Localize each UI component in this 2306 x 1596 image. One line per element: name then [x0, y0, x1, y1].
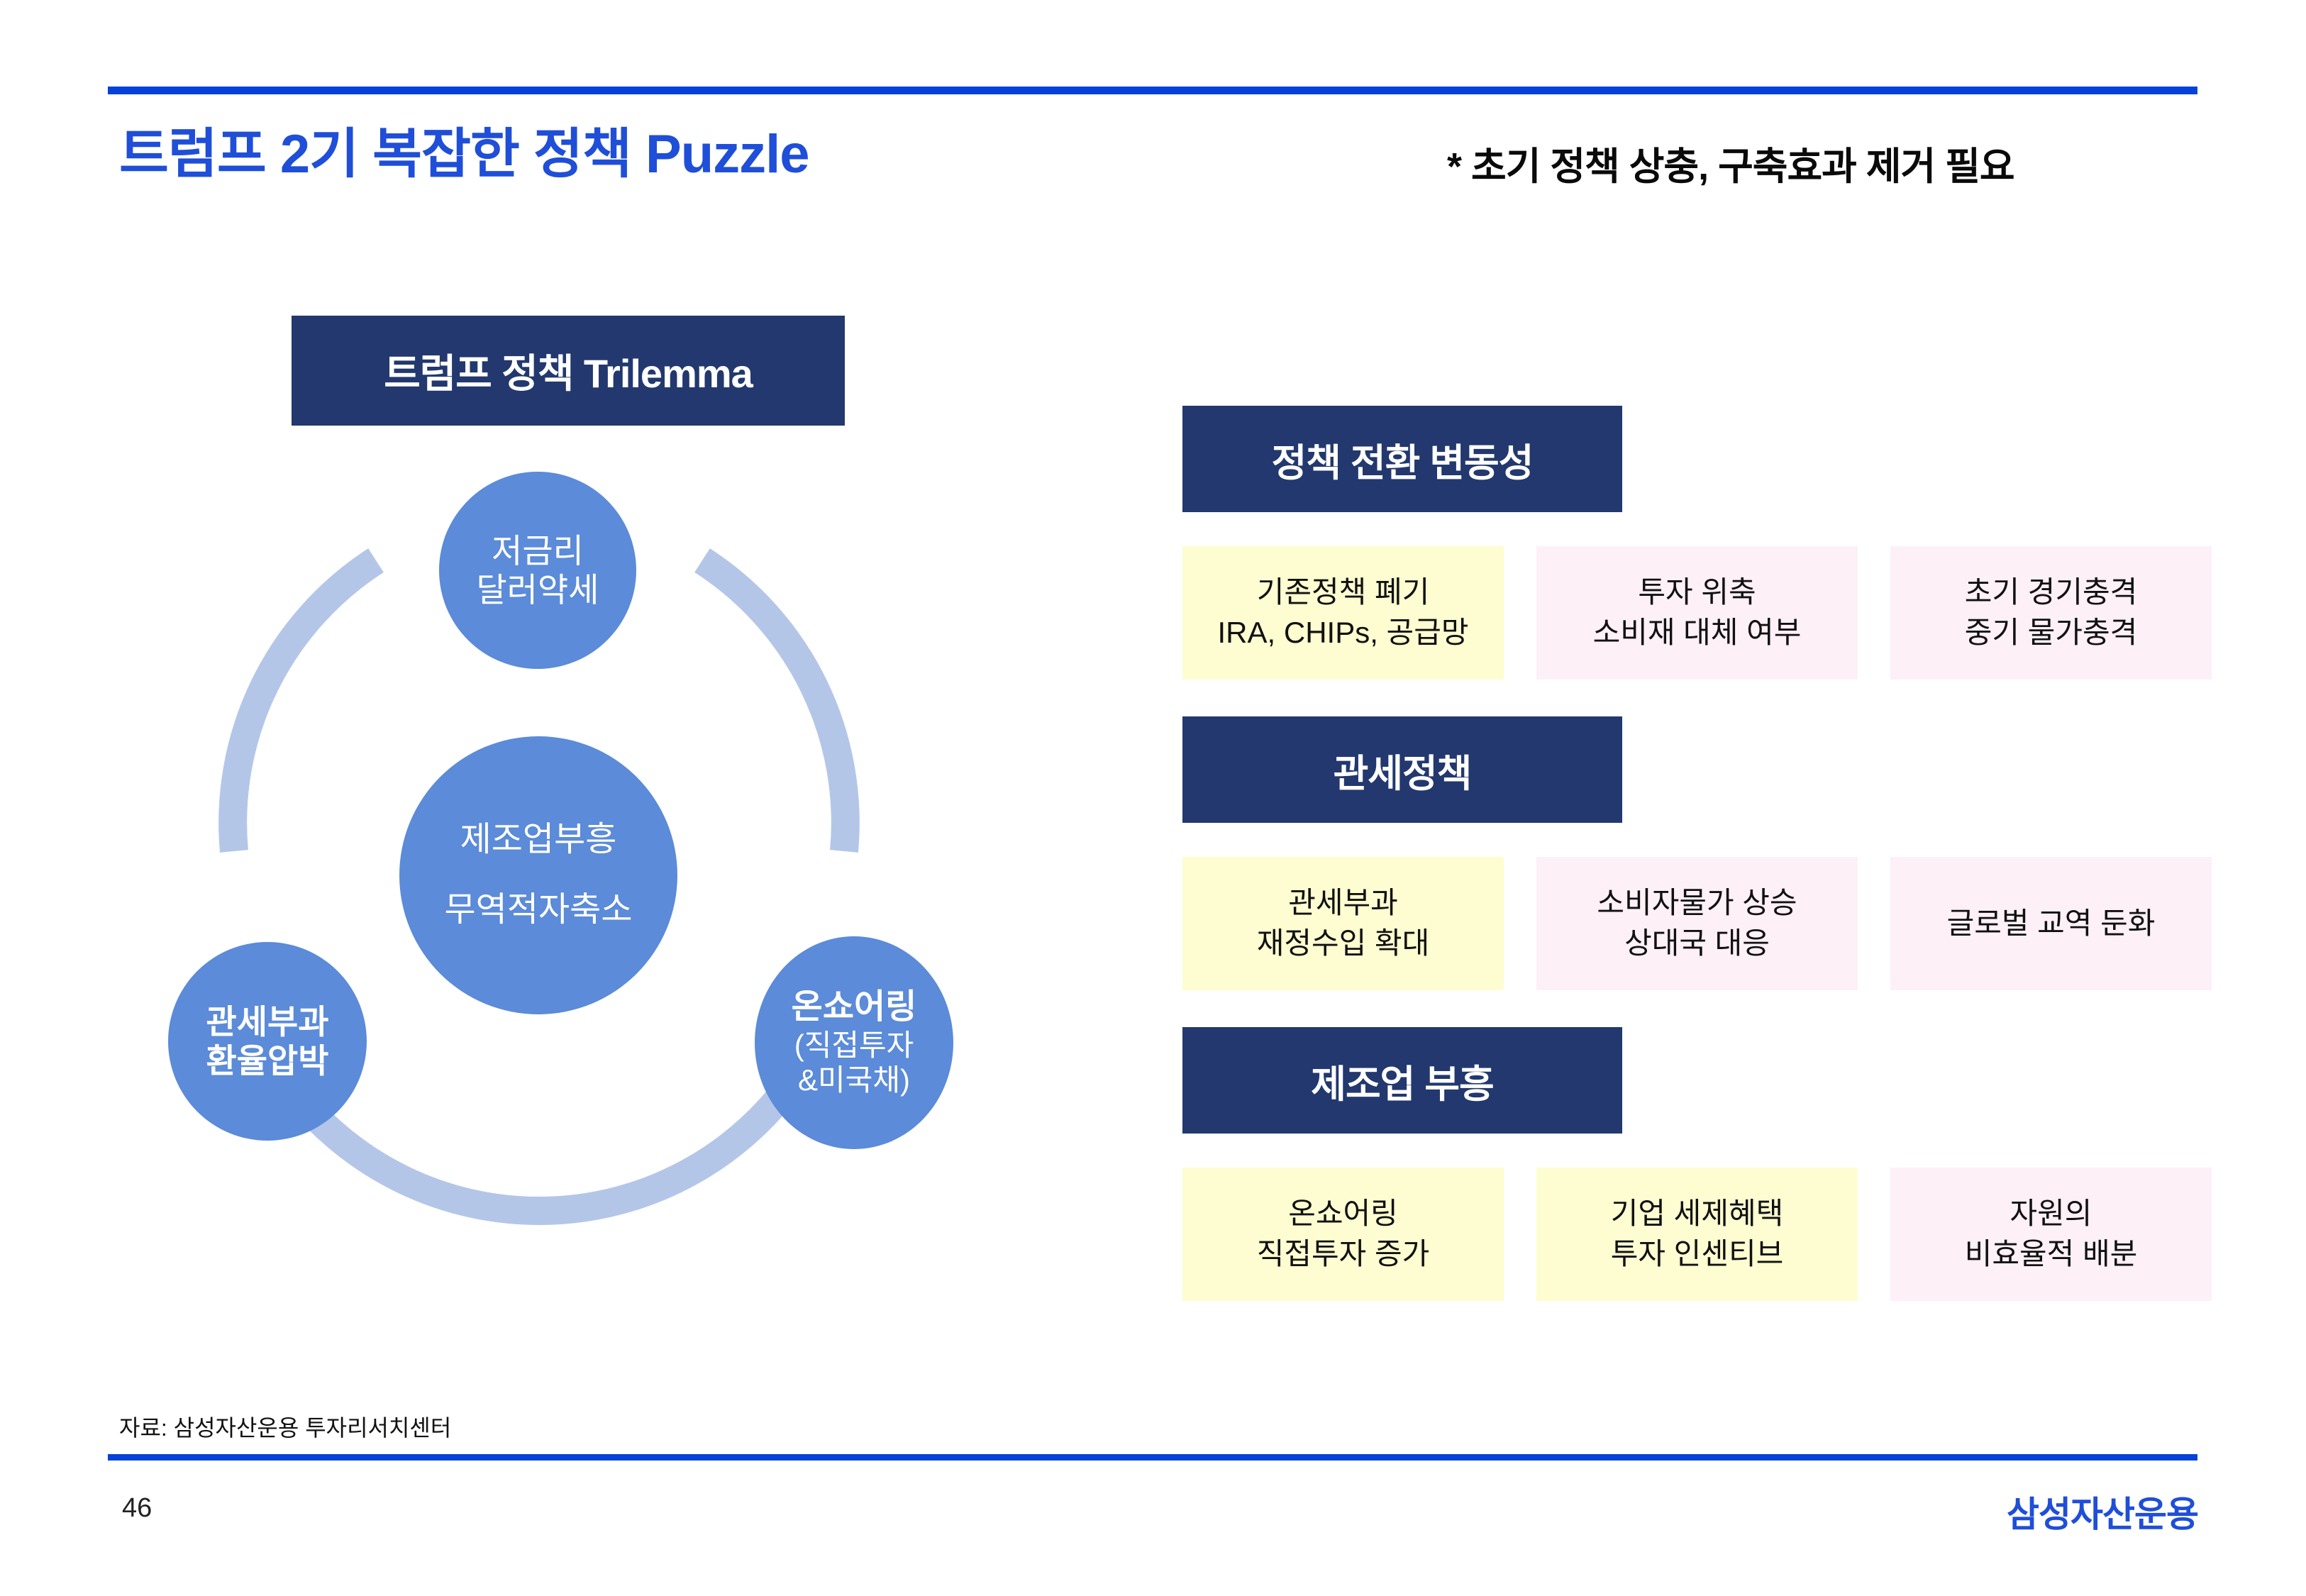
- policy-card-line2: 재정수입 확대: [1257, 924, 1430, 964]
- policy-card: 기업 세제혜택 투자 인센티브: [1536, 1168, 1858, 1301]
- policy-section-3-header-label: 제조업 부흥: [1311, 1053, 1493, 1109]
- policy-card-line2: 비효율적 배분: [1965, 1234, 2138, 1275]
- policy-card-line2: IRA, CHIPs, 공급망: [1218, 613, 1469, 653]
- policy-card: 관세부과 재정수입 확대: [1182, 857, 1504, 990]
- policy-section-1-card-row: 기존정책 폐기 IRA, CHIPs, 공급망 투자 위축 소비재 대체 여부 …: [1182, 546, 2212, 680]
- policy-card-line1: 투자 위축: [1638, 572, 1756, 613]
- policy-section-3-card-row: 온쇼어링 직접투자 증가 기업 세제혜택 투자 인센티브 자원의 비효율적 배분: [1182, 1168, 2212, 1301]
- policy-card-line1: 자원의: [2010, 1194, 2092, 1234]
- policy-section-2: 관세정책 관세부과 재정수입 확대 소비자물가 상승 상대국 대응 글로벌 교역…: [1182, 716, 2212, 990]
- policy-card-line1: 기존정책 폐기: [1257, 572, 1430, 613]
- trilemma-node-top-line2: 달러약세: [477, 570, 599, 609]
- trilemma-node-center-line2: 무역적자축소: [445, 890, 633, 931]
- policy-section-1: 정책 전환 변동성 기존정책 폐기 IRA, CHIPs, 공급망 투자 위축 …: [1182, 406, 2212, 680]
- policy-card-line2: 상대국 대응: [1624, 924, 1770, 964]
- trilemma-diagram: 저금리 달러약세 제조업부흥 무역적자축소 관세부과 환율압박 온쇼어링 (직접…: [163, 454, 1014, 1277]
- footer-rule: [108, 1454, 2197, 1461]
- policy-section-3: 제조업 부흥 온쇼어링 직접투자 증가 기업 세제혜택 투자 인센티브 자원의 …: [1182, 1027, 2212, 1301]
- policy-card: 글로벌 교역 둔화: [1890, 857, 2212, 990]
- trilemma-node-right-line3: &미국채): [798, 1063, 910, 1098]
- policy-card: 자원의 비효율적 배분: [1890, 1168, 2212, 1301]
- policy-card: 초기 경기충격 중기 물가충격: [1890, 546, 2212, 680]
- trilemma-node-center: 제조업부흥 무역적자축소: [399, 736, 677, 1014]
- trilemma-node-right-line2: (직접투자: [794, 1028, 914, 1063]
- page-title: 트럼프 2기 복잡한 정책 Puzzle: [119, 110, 809, 188]
- trilemma-header-label: 트럼프 정책 Trilemma: [384, 342, 753, 399]
- trilemma-node-top-line1: 저금리: [492, 531, 584, 570]
- trilemma-node-top: 저금리 달러약세: [439, 472, 636, 669]
- policy-card-line1: 관세부과: [1288, 883, 1398, 924]
- page-subtitle: * 초기 정책 상충, 구축효과 제거 필요: [1447, 135, 2014, 191]
- policy-card-line2: 투자 인센티브: [1611, 1234, 1784, 1275]
- policy-card-line1: 기업 세제혜택: [1611, 1194, 1784, 1234]
- policy-card: 기존정책 폐기 IRA, CHIPs, 공급망: [1182, 546, 1504, 680]
- policy-card-line1: 온쇼어링: [1288, 1194, 1398, 1234]
- policy-card: 소비자물가 상승 상대국 대응: [1536, 857, 1858, 990]
- trilemma-node-center-line1: 제조업부흥: [460, 820, 617, 860]
- policy-card: 투자 위축 소비재 대체 여부: [1536, 546, 1858, 680]
- trilemma-node-right: 온쇼어링 (직접투자 &미국채): [755, 936, 953, 1149]
- policy-card-line1: 초기 경기충격: [1965, 572, 2138, 613]
- policy-card: 온쇼어링 직접투자 증가: [1182, 1168, 1504, 1301]
- policy-section-2-card-row: 관세부과 재정수입 확대 소비자물가 상승 상대국 대응 글로벌 교역 둔화: [1182, 857, 2212, 990]
- policy-section-1-header: 정책 전환 변동성: [1182, 406, 1622, 512]
- policy-card-line2: 중기 물가충격: [1965, 613, 2138, 653]
- policy-section-3-header: 제조업 부흥: [1182, 1027, 1622, 1134]
- policy-card-line2: 소비재 대체 여부: [1593, 613, 1802, 653]
- trilemma-node-right-line1: 온쇼어링: [792, 987, 917, 1028]
- policy-section-2-header: 관세정책: [1182, 716, 1622, 823]
- source-note: 자료: 삼성자산운용 투자리서치센터: [119, 1410, 451, 1443]
- trilemma-node-left: 관세부과 환율압박: [168, 942, 367, 1141]
- policy-card-line1: 소비자물가 상승: [1597, 883, 1797, 924]
- policy-card-line2: 직접투자 증가: [1257, 1234, 1430, 1275]
- policy-section-1-header-label: 정책 전환 변동성: [1272, 431, 1534, 487]
- trilemma-header: 트럼프 정책 Trilemma: [292, 316, 845, 426]
- trilemma-node-left-line1: 관세부과: [206, 1002, 329, 1041]
- policy-section-2-header-label: 관세정책: [1334, 742, 1472, 798]
- policy-card-line1: 글로벌 교역 둔화: [1947, 904, 2156, 944]
- brand-logo: 삼성자산운용: [2007, 1486, 2198, 1537]
- trilemma-node-left-line2: 환율압박: [206, 1041, 329, 1080]
- header-top-rule: [108, 87, 2197, 94]
- page-number: 46: [122, 1493, 152, 1524]
